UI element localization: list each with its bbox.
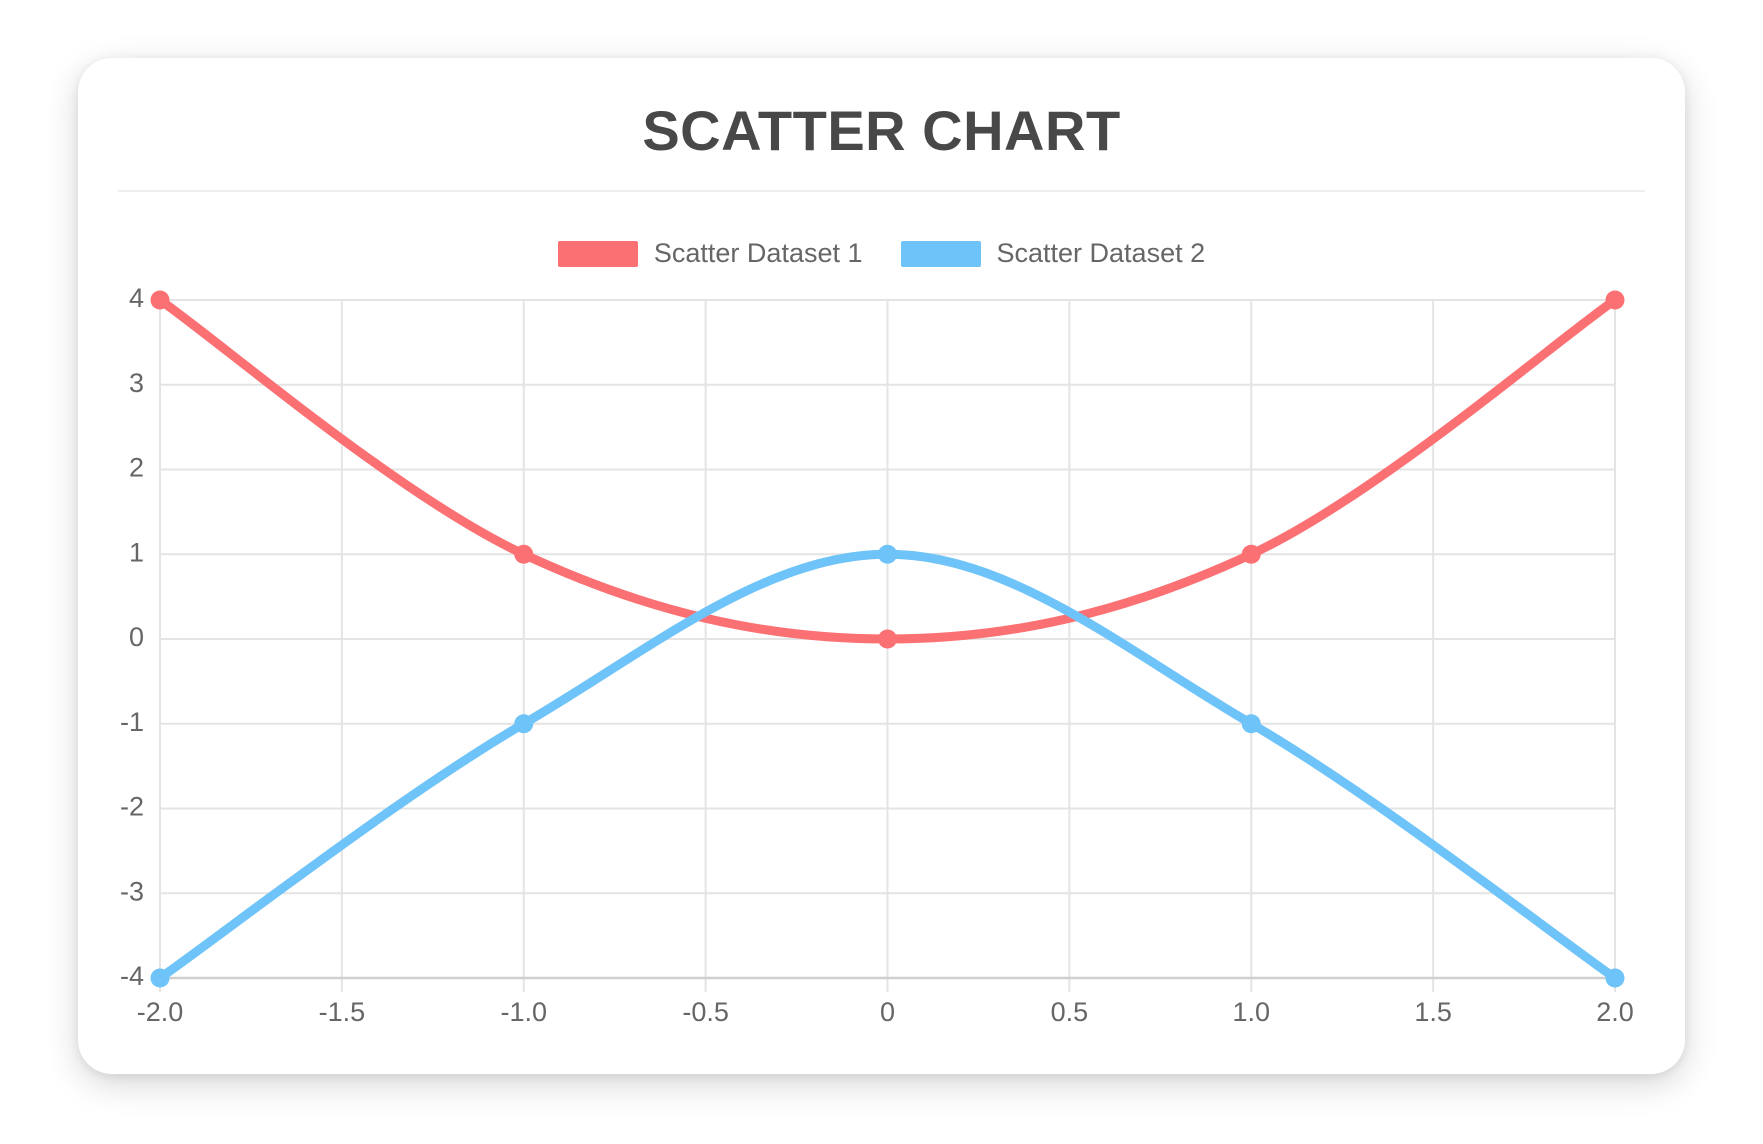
data-point[interactable] — [1606, 291, 1625, 310]
legend-item-dataset-2[interactable]: Scatter Dataset 2 — [901, 238, 1206, 269]
x-axis-tick-label: 1.5 — [1414, 997, 1452, 1027]
data-point[interactable] — [878, 630, 897, 649]
y-axis-tick-label: -1 — [120, 707, 144, 737]
x-axis-tick-label: -2.0 — [137, 997, 184, 1027]
y-axis-tick-label: 4 — [129, 283, 144, 313]
plot-area: 43210-1-2-3-4-2.0-1.5-1.0-0.500.51.01.52… — [78, 58, 1685, 1074]
legend-item-dataset-1[interactable]: Scatter Dataset 1 — [558, 238, 863, 269]
y-axis-tick-label: 1 — [129, 537, 144, 567]
series-line-1 — [160, 300, 1615, 639]
chart-legend: Scatter Dataset 1 Scatter Dataset 2 — [78, 238, 1685, 269]
data-point[interactable] — [151, 969, 170, 988]
legend-swatch-dataset-1 — [558, 241, 638, 267]
legend-label-dataset-1: Scatter Dataset 1 — [654, 238, 863, 269]
data-point[interactable] — [514, 545, 533, 564]
data-point[interactable] — [1242, 714, 1261, 733]
legend-swatch-dataset-2 — [901, 241, 981, 267]
x-axis-tick-label: 2.0 — [1596, 997, 1634, 1027]
screenshot-root: SCATTER CHART Scatter Dataset 1 Scatter … — [0, 0, 1763, 1144]
x-axis-tick-label: -1.0 — [500, 997, 547, 1027]
legend-label-dataset-2: Scatter Dataset 2 — [997, 238, 1206, 269]
y-axis-tick-label: -2 — [120, 792, 144, 822]
x-axis-tick-label: 1.0 — [1232, 997, 1270, 1027]
y-axis-tick-label: 3 — [129, 368, 144, 398]
data-point[interactable] — [878, 545, 897, 564]
chart-card: SCATTER CHART Scatter Dataset 1 Scatter … — [78, 58, 1685, 1074]
y-axis-tick-label: -3 — [120, 876, 144, 906]
series-line-2 — [160, 554, 1615, 978]
y-axis-tick-label: -4 — [120, 961, 144, 991]
x-axis-tick-label: 0.5 — [1051, 997, 1089, 1027]
scatter-plot-svg: 43210-1-2-3-4-2.0-1.5-1.0-0.500.51.01.52… — [78, 58, 1685, 1074]
x-axis-tick-label: 0 — [880, 997, 895, 1027]
data-point[interactable] — [151, 291, 170, 310]
y-axis-tick-label: 0 — [129, 622, 144, 652]
page-title: SCATTER CHART — [78, 98, 1685, 163]
x-axis-tick-label: -1.5 — [319, 997, 366, 1027]
data-point[interactable] — [1242, 545, 1261, 564]
data-point[interactable] — [514, 714, 533, 733]
y-axis-tick-label: 2 — [129, 453, 144, 483]
title-divider — [118, 190, 1645, 192]
x-axis-tick-label: -0.5 — [682, 997, 729, 1027]
data-point[interactable] — [1606, 969, 1625, 988]
